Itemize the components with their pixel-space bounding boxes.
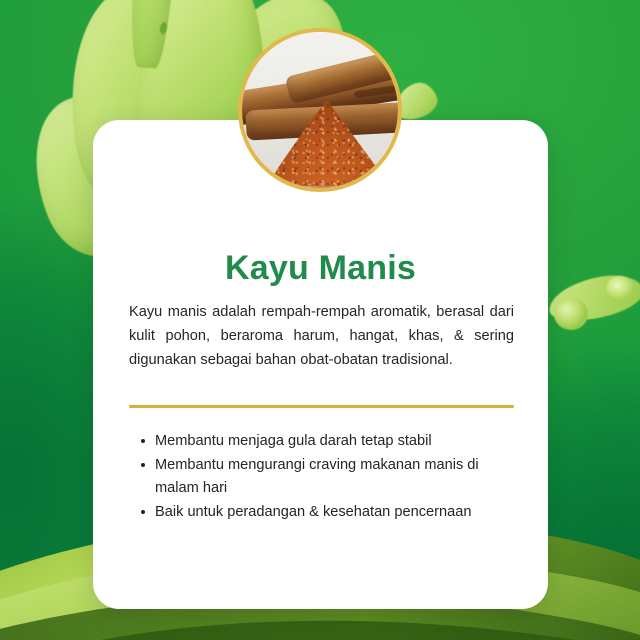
list-item-label: Membantu menjaga gula darah tetap stabil [155,433,432,449]
bullet-dot-icon [141,510,145,514]
list-item: Baik untuk peradangan & kesehatan pencer… [155,501,520,524]
list-item: Membantu mengurangi craving makanan mani… [155,454,520,500]
bullet-dot-icon [141,439,145,443]
poster-canvas: Kayu Manis Kayu manis adalah rempah-remp… [0,0,640,640]
bullet-dot-icon [141,463,145,467]
description-text: Kayu manis adalah rempah-rempah aromatik… [129,300,514,372]
list-item-label: Baik untuk peradangan & kesehatan pencer… [155,504,471,520]
benefits-list: Membantu menjaga gula darah tetap stabil… [133,430,520,525]
page-title: Kayu Manis [93,249,548,288]
list-item: Membantu menjaga gula darah tetap stabil [155,430,520,453]
sprout-bud-icon [554,298,588,330]
hero-circle-frame [238,28,402,192]
cinnamon-photo [242,32,398,188]
section-divider [129,405,514,408]
list-item-label: Membantu mengurangi craving makanan mani… [155,457,479,496]
content-card: Kayu Manis Kayu manis adalah rempah-remp… [93,120,548,609]
sprout-bud-icon [606,276,634,302]
